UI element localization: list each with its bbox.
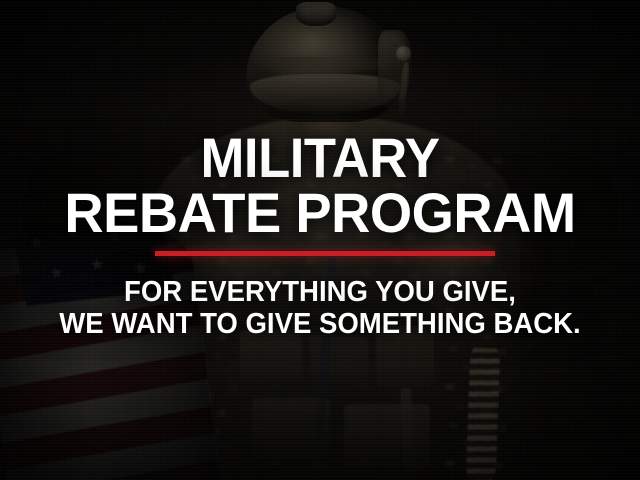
military-rebate-program-poster: ★ ★ ★ ★ ★ ★ MILITARY REBATE PROGRAM FOR …: [0, 0, 640, 480]
subhead-line-1: FOR EVERYTHING YOU GIVE,: [16, 277, 624, 308]
headline-line-2: REBATE PROGRAM: [10, 185, 631, 241]
red-accent-rule: [155, 251, 495, 256]
headline-line-1: MILITARY: [19, 130, 621, 186]
subhead-line-2: WE WANT TO GIVE SOMETHING BACK.: [16, 309, 624, 340]
text-overlay: MILITARY REBATE PROGRAM FOR EVERYTHING Y…: [0, 0, 640, 480]
